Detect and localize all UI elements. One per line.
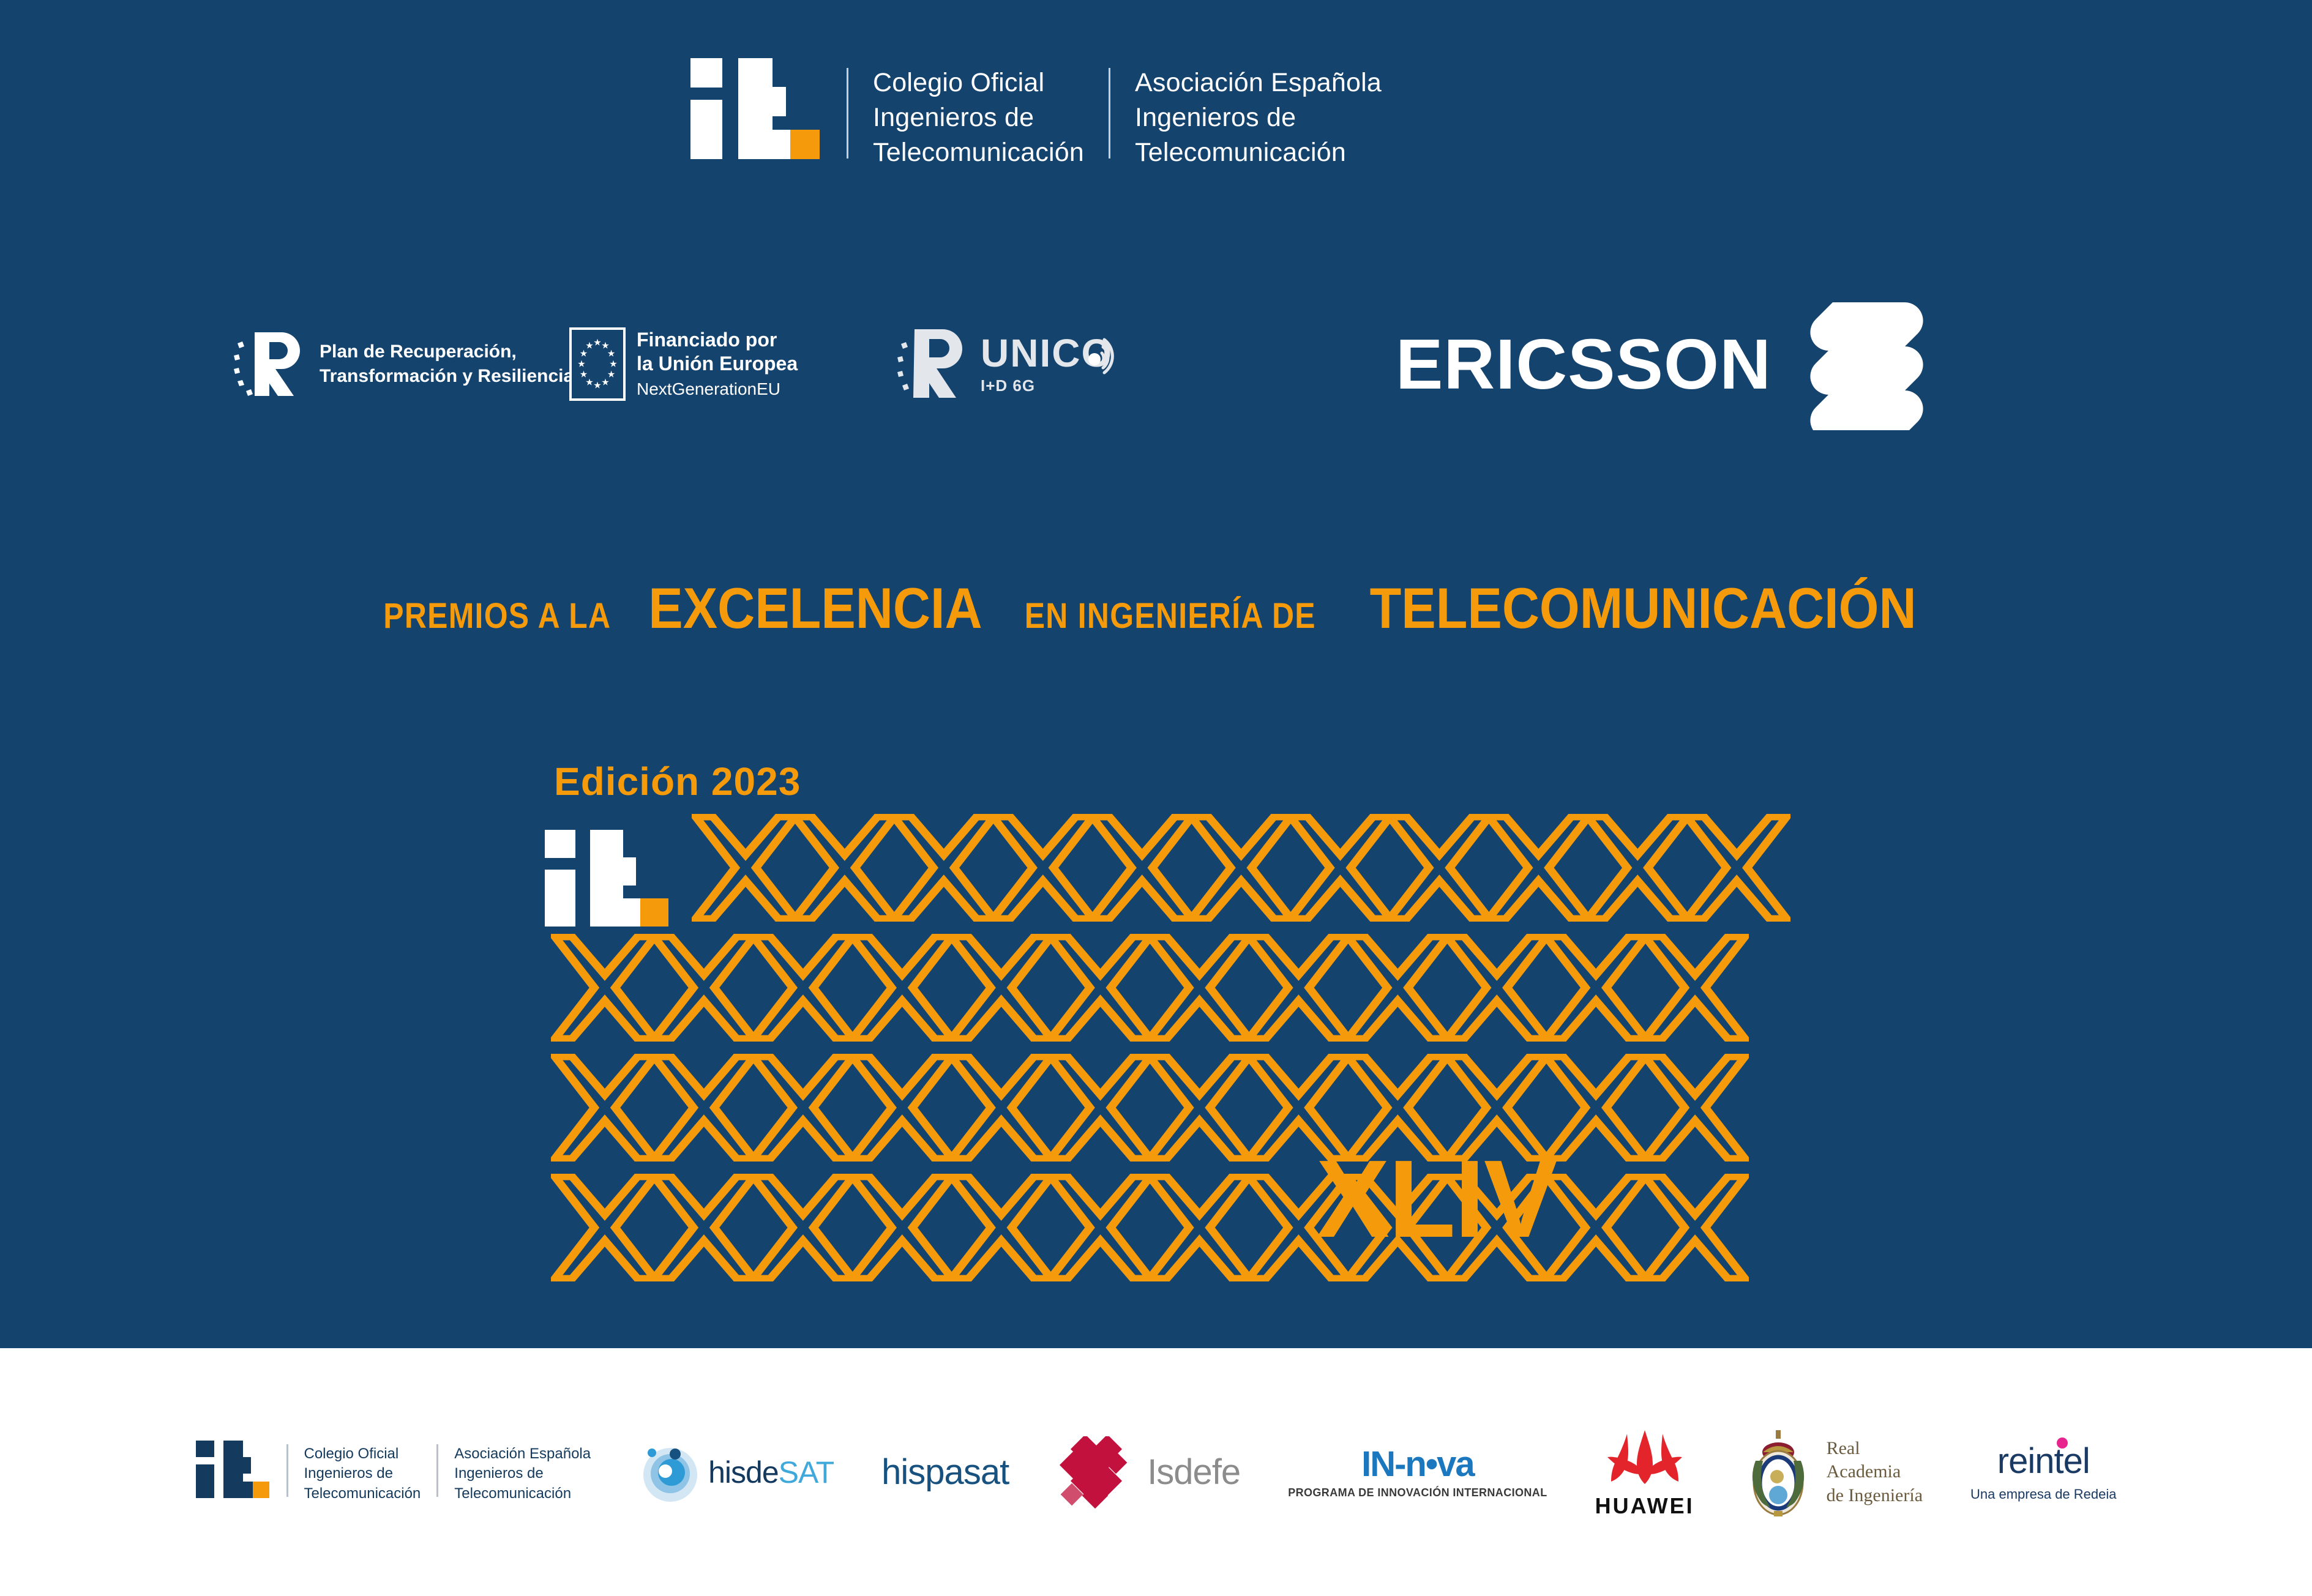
- header-asociacion-line3: Telecomunicación: [1135, 135, 1382, 170]
- x-glyph: [852, 1056, 952, 1159]
- x-glyph: [1050, 1176, 1151, 1279]
- footer-asociacion-block: Asociación Española Ingenieros de Teleco…: [454, 1444, 591, 1504]
- x-glyph: [654, 1176, 754, 1279]
- x-pattern-row: [551, 1054, 1749, 1162]
- logo-unico: UNICO I+D 6G: [894, 306, 1124, 422]
- header-colegio-line1: Colegio Oficial: [873, 65, 1084, 100]
- unico-signal-icon: [1080, 334, 1124, 379]
- footer-logo-hispasat[interactable]: hispasat: [881, 1455, 1009, 1490]
- x-glyph: [753, 1056, 853, 1159]
- eu-star-icon: ★: [609, 360, 617, 369]
- footer-colegio-line1: Colegio Oficial: [304, 1444, 421, 1464]
- x-glyph: [1446, 936, 1547, 1039]
- headline-part3: EN INGENIERÍA DE: [1025, 595, 1316, 636]
- eu-star-icon: ★: [593, 381, 601, 390]
- huawei-flower-icon: [1599, 1428, 1691, 1488]
- header-logo-lockup: Colegio Oficial Ingenieros de Telecomuni…: [690, 58, 1382, 171]
- headline-part4: TELECOMUNICACIÓN: [1370, 575, 1917, 641]
- logo-plan-recuperacion: Plan de Recuperación, Transformación y R…: [231, 306, 574, 422]
- x-glyph: [1686, 816, 1787, 919]
- x-glyph: [1150, 1056, 1250, 1159]
- reintel-subtitle: Una empresa de Redeia: [1970, 1488, 2116, 1501]
- eu-text-block: Financiado por la Unión Europea NextGene…: [637, 328, 798, 400]
- real-academia-crest-icon: [1742, 1426, 1814, 1518]
- hisdesat-text-b: SAT: [779, 1455, 834, 1490]
- x-glyph: [852, 1176, 952, 1279]
- header-colegio-line2: Ingenieros de: [873, 100, 1084, 135]
- eu-star-icon: ★: [577, 360, 585, 369]
- reintel-wordmark: reintel: [1997, 1444, 2090, 1479]
- eu-line3: NextGenerationEU: [637, 378, 798, 400]
- it-logo-inline-icon: [545, 830, 670, 927]
- x-glyph-group: [551, 1174, 1749, 1281]
- header-colegio-line3: Telecomunicación: [873, 135, 1084, 170]
- it-logo-icon: [690, 58, 822, 159]
- x-pattern-row: [692, 814, 1790, 922]
- real-academia-text-block: Real Academia de Ingeniería: [1827, 1437, 1923, 1507]
- eu-star-icon: ★: [601, 378, 609, 387]
- eu-star-icon: ★: [580, 370, 588, 379]
- footer-logo-isdefe[interactable]: Isdefe: [1057, 1436, 1240, 1508]
- hisdesat-wordmark: hisdeSAT: [708, 1457, 834, 1488]
- header-asociacion-line1: Asociación Española: [1135, 65, 1382, 100]
- funding-logos-row: Plan de Recuperación, Transformación y R…: [0, 306, 2312, 422]
- footer-asociacion-line3: Telecomunicación: [454, 1484, 591, 1504]
- footer-colegio-line2: Ingenieros de: [304, 1464, 421, 1484]
- x-glyph: [1488, 816, 1588, 919]
- eu-star-icon: ★: [607, 349, 615, 358]
- footer-colegio-block: Colegio Oficial Ingenieros de Telecomuni…: [304, 1444, 421, 1504]
- x-glyph: [1546, 936, 1646, 1039]
- header-asociacion-block: Asociación Española Ingenieros de Teleco…: [1135, 65, 1382, 171]
- x-pattern-block: [551, 814, 1775, 1279]
- x-glyph: [993, 816, 1093, 919]
- x-glyph: [1645, 936, 1745, 1039]
- edition-label: Edición 2023: [554, 759, 801, 804]
- x-glyph: [555, 1056, 655, 1159]
- footer-logo-real-academia[interactable]: Real Academia de Ingeniería: [1742, 1426, 1923, 1518]
- prtr-r-icon: [231, 327, 311, 401]
- x-glyph: [1150, 1176, 1250, 1279]
- x-glyph: [1389, 816, 1489, 919]
- header-asociacion-line2: Ingenieros de: [1135, 100, 1382, 135]
- x-glyph: [951, 1176, 1052, 1279]
- x-glyph: [1092, 816, 1192, 919]
- eu-flag-icon: ★★★★★★★★★★★★: [569, 327, 626, 401]
- footer-logo-innova[interactable]: IN-n•va PROGRAMA DE INNOVACIÓN INTERNACI…: [1288, 1447, 1547, 1498]
- edition-roman-numeral: XLIV: [1316, 1144, 1556, 1255]
- x-glyph: [753, 1176, 853, 1279]
- footer-logo-reintel[interactable]: reintel Una empresa de Redeia: [1970, 1444, 2116, 1501]
- footer-asociacion-line1: Asociación Española: [454, 1444, 591, 1464]
- x-glyph: [1290, 816, 1391, 919]
- header-divider-1: [847, 68, 848, 158]
- x-glyph-group: [551, 934, 1749, 1042]
- footer-logo-hisdesat[interactable]: hisdeSAT: [638, 1441, 834, 1504]
- headline-part2: EXCELENCIA: [648, 575, 982, 641]
- footer-divider-1: [286, 1444, 288, 1497]
- page-title: PREMIOS A LAEXCELENCIAEN INGENIERÍA DETE…: [0, 575, 2312, 641]
- footer-asociacion-line2: Ingenieros de: [454, 1464, 591, 1484]
- poster-stage: Colegio Oficial Ingenieros de Telecomuni…: [0, 0, 2312, 1348]
- eu-line1: Financiado por: [637, 328, 798, 352]
- eu-line2: la Unión Europea: [637, 352, 798, 376]
- unico-sub: I+D 6G: [981, 376, 1113, 395]
- footer-logo-it-colegio[interactable]: Colegio Oficial Ingenieros de Telecomuni…: [196, 1441, 591, 1504]
- hisdesat-text-a: hisde: [708, 1455, 779, 1490]
- x-glyph: [1645, 1056, 1745, 1159]
- footer-colegio-line3: Telecomunicación: [304, 1484, 421, 1504]
- reintel-text: reintel: [1997, 1441, 2090, 1481]
- x-glyph: [1546, 1176, 1646, 1279]
- logo-ericsson: ERICSSON: [1396, 306, 1924, 422]
- ericsson-wordmark: ERICSSON: [1396, 329, 1771, 400]
- x-glyph: [852, 936, 952, 1039]
- real-academia-line1: Real: [1827, 1437, 1923, 1460]
- prtr-line2: Transformación y Resiliencia: [320, 364, 574, 389]
- eu-star-icon: ★: [593, 338, 601, 348]
- header-divider-2: [1109, 68, 1110, 158]
- unico-r-icon: [894, 324, 967, 404]
- hispasat-wordmark: hispasat: [881, 1455, 1009, 1490]
- x-glyph: [1150, 936, 1250, 1039]
- x-glyph: [1191, 816, 1292, 919]
- x-glyph: [894, 816, 994, 919]
- x-glyph: [555, 1176, 655, 1279]
- x-glyph: [1050, 936, 1151, 1039]
- headline-part1: PREMIOS A LA: [384, 595, 612, 636]
- x-glyph: [1546, 1056, 1646, 1159]
- x-glyph-group: [551, 1054, 1749, 1162]
- hisdesat-globe-icon: [638, 1441, 702, 1504]
- x-glyph: [951, 936, 1052, 1039]
- ericsson-logo-icon: [1805, 299, 1924, 430]
- x-glyph: [1050, 1056, 1151, 1159]
- x-glyph: [753, 936, 853, 1039]
- x-glyph-group: [692, 814, 1790, 922]
- prtr-text-block: Plan de Recuperación, Transformación y R…: [320, 340, 574, 389]
- x-pattern-row: [551, 934, 1749, 1042]
- header-colegio-block: Colegio Oficial Ingenieros de Telecomuni…: [873, 65, 1084, 171]
- isdefe-wordmark: Isdefe: [1147, 1455, 1240, 1490]
- x-glyph: [654, 936, 754, 1039]
- x-glyph: [695, 816, 796, 919]
- innova-subtitle: PROGRAMA DE INNOVACIÓN INTERNACIONAL: [1288, 1487, 1547, 1498]
- innova-wordmark: IN-n•va: [1361, 1447, 1474, 1482]
- x-glyph: [555, 936, 655, 1039]
- real-academia-line3: de Ingeniería: [1827, 1484, 1923, 1507]
- x-glyph: [1587, 816, 1688, 919]
- footer-sponsor-bar: Colegio Oficial Ingenieros de Telecomuni…: [0, 1348, 2312, 1596]
- footer-divider-2: [436, 1444, 438, 1497]
- real-academia-line2: Academia: [1827, 1460, 1923, 1483]
- huawei-wordmark: HUAWEI: [1595, 1495, 1694, 1517]
- x-glyph: [654, 1056, 754, 1159]
- eu-star-icon: ★: [585, 341, 593, 350]
- x-glyph: [1645, 1176, 1745, 1279]
- x-pattern-row: [551, 1174, 1749, 1281]
- isdefe-diamond-icon: [1057, 1436, 1136, 1508]
- reintel-dot-icon: [2057, 1438, 2068, 1449]
- logo-financiado-union-europea: ★★★★★★★★★★★★ Financiado por la Unión Eur…: [569, 306, 798, 422]
- x-glyph: [951, 1056, 1052, 1159]
- x-glyph: [1347, 936, 1448, 1039]
- prtr-line1: Plan de Recuperación,: [320, 340, 574, 365]
- footer-logo-huawei[interactable]: HUAWEI: [1595, 1428, 1694, 1517]
- x-glyph: [1248, 936, 1349, 1039]
- x-glyph: [795, 816, 895, 919]
